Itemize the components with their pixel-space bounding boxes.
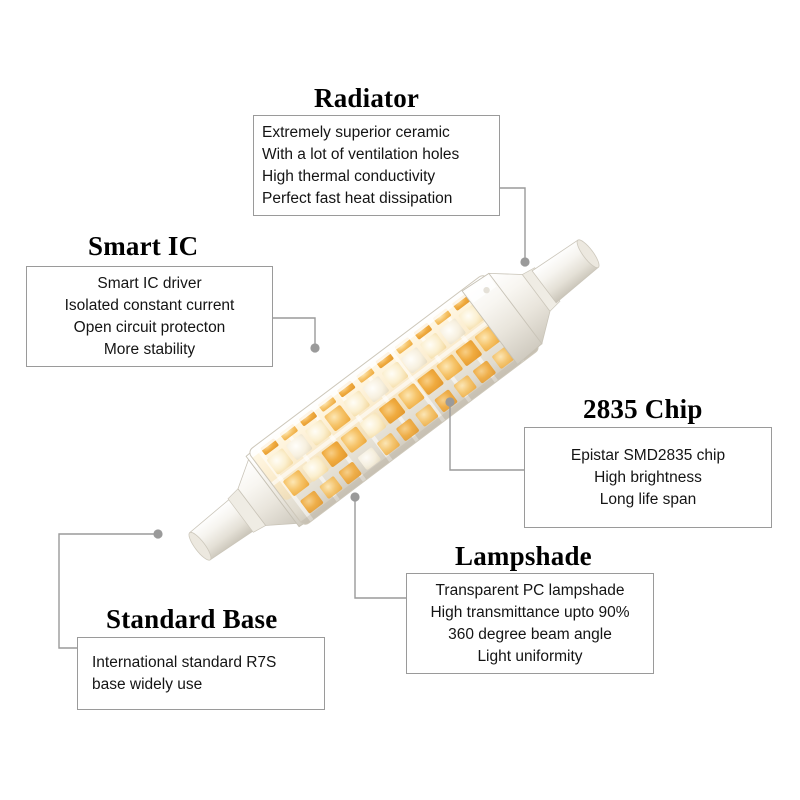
- callout-line: 360 degree beam angle: [415, 624, 645, 646]
- leader-radiator: [500, 188, 525, 262]
- leader-smart-ic: [273, 318, 315, 348]
- leader-lampshade: [355, 497, 406, 598]
- callout-line: Open circuit protecton: [37, 317, 262, 339]
- callout-line: base widely use: [92, 674, 324, 696]
- anchor-dot-lampshade: [350, 492, 359, 501]
- callout-box-smart-ic: Smart IC driver Isolated constant curren…: [26, 266, 273, 367]
- callout-title-smart-ic: Smart IC: [88, 231, 198, 262]
- callout-line: High brightness: [533, 467, 763, 489]
- infographic-canvas: Radiator Extremely superior ceramic With…: [0, 0, 800, 800]
- callout-title-chip: 2835 Chip: [583, 394, 703, 425]
- anchor-dot-chip: [445, 397, 454, 406]
- anchor-dot-radiator: [520, 257, 529, 266]
- anchor-dot-standard-base: [153, 529, 162, 538]
- callout-line: Perfect fast heat dissipation: [262, 188, 499, 210]
- callout-line: High thermal conductivity: [262, 166, 499, 188]
- callout-line: With a lot of ventilation holes: [262, 144, 499, 166]
- callout-box-lampshade: Transparent PC lampshade High transmitta…: [406, 573, 654, 674]
- callout-title-lampshade: Lampshade: [455, 541, 592, 572]
- anchor-dot-smart-ic: [310, 343, 319, 352]
- callout-line: Epistar SMD2835 chip: [533, 445, 763, 467]
- callout-line: Isolated constant current: [37, 295, 262, 317]
- callout-line: Transparent PC lampshade: [415, 580, 645, 602]
- callout-line: Long life span: [533, 489, 763, 511]
- callout-line: Light uniformity: [415, 646, 645, 668]
- callout-line: More stability: [37, 339, 262, 361]
- callout-title-standard-base: Standard Base: [106, 604, 277, 635]
- callout-line: International standard R7S: [92, 652, 324, 674]
- callout-line: Extremely superior ceramic: [262, 122, 499, 144]
- callout-title-radiator: Radiator: [314, 83, 419, 114]
- callout-line: Smart IC driver: [37, 273, 262, 295]
- callout-box-radiator: Extremely superior ceramic With a lot of…: [253, 115, 500, 216]
- leader-chip: [450, 402, 524, 470]
- callout-box-chip: Epistar SMD2835 chip High brightness Lon…: [524, 427, 772, 528]
- callout-line: High transmittance upto 90%: [415, 602, 645, 624]
- callout-box-standard-base: International standard R7S base widely u…: [77, 637, 325, 710]
